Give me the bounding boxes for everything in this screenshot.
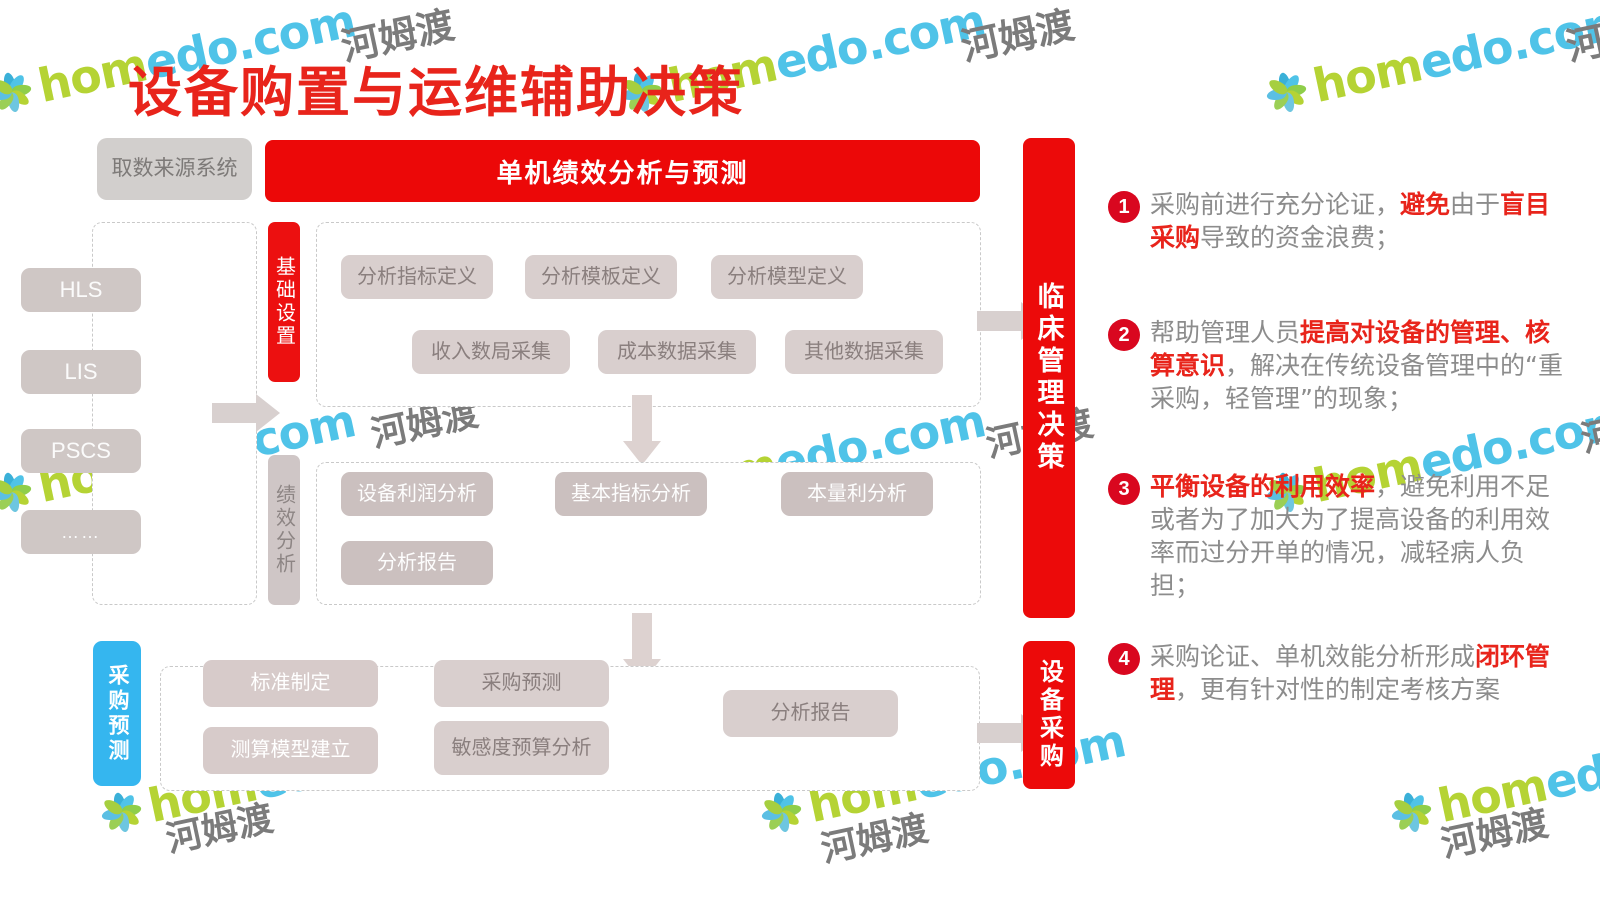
watermark-cn-text: 河姆渡 xyxy=(1576,389,1600,462)
watermark-brand-text: homedo.com xyxy=(1308,0,1600,113)
source-system-pscs[interactable]: PSCS xyxy=(21,429,141,473)
outcome-clinical-management-decision[interactable]: 临床管理决策 xyxy=(1023,138,1075,618)
arrow-to-equipment-purchase xyxy=(977,723,1021,743)
section-banner: 单机绩效分析与预测 xyxy=(265,140,980,202)
source-system-more[interactable]: …… xyxy=(21,510,141,554)
benefit-number-3: 3 xyxy=(1108,473,1140,505)
analysis-panel: 设备利润分析 基本指标分析 本量利分析 分析报告 xyxy=(316,462,981,605)
benefit-text-4: 采购论证、单机效能分析形成闭环管理，更有针对性的制定考核方案 xyxy=(1150,640,1568,706)
tab-basic-setup[interactable]: 基础设置 xyxy=(268,222,300,382)
source-system-hls[interactable]: HLS xyxy=(21,268,141,312)
watermark-homedo-logo: homedo.com xyxy=(1259,0,1600,123)
benefit-item-2: 2 帮助管理人员提高对设备的管理、核算意识，解决在传统设备管理中的“重采购，轻管… xyxy=(1108,316,1568,415)
benefit-number-1: 1 xyxy=(1108,191,1140,223)
page-title: 设备购置与运维辅助决策 xyxy=(128,48,744,127)
benefit-number-2: 2 xyxy=(1108,319,1140,351)
setup-item-income-collect[interactable]: 收入数局采集 xyxy=(412,330,570,374)
watermark-brand-text: homedo.com xyxy=(1433,713,1600,833)
watermark-homedo-logo: homedo.com xyxy=(1384,713,1600,843)
watermark-cn-text: 河姆渡 xyxy=(1561,0,1600,71)
procurement-item-standard[interactable]: 标准制定 xyxy=(203,660,378,707)
flower-icon xyxy=(755,786,807,838)
flower-icon xyxy=(1260,66,1312,118)
analysis-item-report[interactable]: 分析报告 xyxy=(341,541,493,585)
procurement-item-report[interactable]: 分析报告 xyxy=(723,690,898,737)
flower-icon xyxy=(0,66,38,118)
setup-item-template-def[interactable]: 分析模板定义 xyxy=(525,255,677,299)
outcome-equipment-purchase[interactable]: 设备采购 xyxy=(1023,641,1075,789)
arrow-analysis-to-procurement xyxy=(632,613,652,659)
source-system-lis[interactable]: LIS xyxy=(21,350,141,394)
benefit-text-3: 平衡设备的利用效率，避免利用不足或者为了加大为了提高设备的利用效率而过分开单的情… xyxy=(1150,470,1568,602)
benefit-text-2: 帮助管理人员提高对设备的管理、核算意识，解决在传统设备管理中的“重采购，轻管理”… xyxy=(1150,316,1568,415)
benefit-text-1: 采购前进行充分论证，避免由于盲目采购导致的资金浪费； xyxy=(1150,188,1568,254)
watermark-cn-text: 河姆渡 xyxy=(816,799,932,872)
flower-icon xyxy=(95,786,147,838)
data-source-header: 取数来源系统 xyxy=(97,138,252,200)
watermark-cn-text: 河姆渡 xyxy=(1436,794,1552,867)
procurement-panel: 标准制定 测算模型建立 采购预测 敏感度预算分析 分析报告 xyxy=(160,666,980,791)
analysis-item-equipment-profit[interactable]: 设备利润分析 xyxy=(341,472,493,516)
benefit-item-3: 3 平衡设备的利用效率，避免利用不足或者为了加大为了提高设备的利用效率而过分开单… xyxy=(1108,470,1568,602)
tab-procurement-forecast[interactable]: 采购预测 xyxy=(93,641,141,786)
slide-canvas: homedo.comhomedo.comhomedo.comhomedo.com… xyxy=(0,0,1600,900)
flower-icon xyxy=(1385,786,1437,838)
arrow-to-clinical-decision xyxy=(977,311,1021,331)
procurement-item-model-build[interactable]: 测算模型建立 xyxy=(203,727,378,774)
analysis-item-basic-indicator[interactable]: 基本指标分析 xyxy=(555,472,707,516)
watermark-cn-text: 河姆渡 xyxy=(161,789,277,862)
setup-item-cost-collect[interactable]: 成本数据采集 xyxy=(598,330,756,374)
setup-panel: 分析指标定义 分析模板定义 分析模型定义 收入数局采集 成本数据采集 其他数据采… xyxy=(316,222,981,407)
setup-item-model-def[interactable]: 分析模型定义 xyxy=(711,255,863,299)
procurement-item-sensitivity[interactable]: 敏感度预算分析 xyxy=(434,721,609,775)
benefit-number-4: 4 xyxy=(1108,643,1140,675)
arrow-sources-to-setup xyxy=(212,403,256,423)
benefit-item-1: 1 采购前进行充分论证，避免由于盲目采购导致的资金浪费； xyxy=(1108,188,1568,254)
watermark-cn-text: 河姆渡 xyxy=(956,0,1079,71)
arrow-setup-to-analysis xyxy=(632,395,652,441)
setup-item-other-collect[interactable]: 其他数据采集 xyxy=(785,330,943,374)
benefit-item-4: 4 采购论证、单机效能分析形成闭环管理，更有针对性的制定考核方案 xyxy=(1108,640,1568,706)
procurement-item-forecast[interactable]: 采购预测 xyxy=(434,660,609,707)
tab-performance-analysis[interactable]: 绩效分析 xyxy=(268,455,300,605)
setup-item-indicator-def[interactable]: 分析指标定义 xyxy=(341,255,493,299)
analysis-item-cvp[interactable]: 本量利分析 xyxy=(781,472,933,516)
